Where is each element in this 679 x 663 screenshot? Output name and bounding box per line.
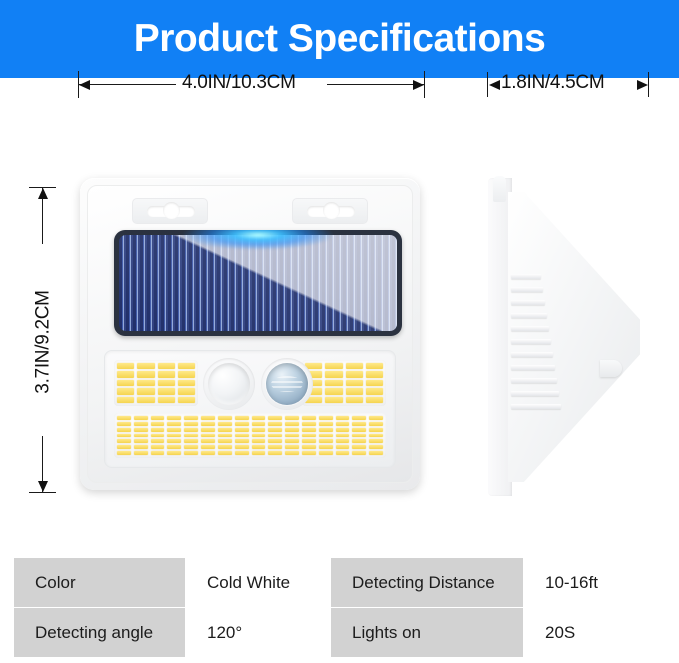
led-chip: [178, 363, 195, 369]
led-chip: [369, 439, 383, 443]
led-chip: [137, 371, 154, 377]
height-dim-tick-bottom: [29, 492, 56, 493]
led-chip: [268, 416, 282, 420]
led-chip: [346, 371, 363, 377]
led-chip: [201, 445, 215, 449]
led-chip: [158, 388, 175, 394]
led-chip: [369, 428, 383, 432]
led-chip: [201, 434, 215, 438]
led-chip: [167, 434, 181, 438]
led-chip: [167, 439, 181, 443]
pir-sensor-lens: [266, 363, 308, 405]
light-sensor-dome: [208, 363, 250, 405]
depth-dimension-label: 1.8IN/4.5CM: [501, 72, 604, 94]
side-mount-tab: [493, 176, 506, 202]
cooling-fin: [511, 339, 551, 344]
led-chip: [252, 434, 266, 438]
led-chip: [346, 380, 363, 386]
led-chip: [117, 397, 134, 403]
led-chip: [201, 439, 215, 443]
led-chip: [218, 451, 232, 455]
led-chip: [158, 371, 175, 377]
led-chip: [184, 422, 198, 426]
led-chip: [268, 422, 282, 426]
led-chip: [235, 451, 249, 455]
led-chip: [117, 422, 131, 426]
led-chip: [117, 428, 131, 432]
led-chip: [235, 416, 249, 420]
led-chip: [201, 422, 215, 426]
led-chip: [346, 363, 363, 369]
cooling-fin: [511, 378, 557, 383]
cooling-fin: [511, 404, 561, 409]
led-chip: [167, 451, 181, 455]
cooling-fin: [511, 313, 547, 318]
led-chip: [178, 380, 195, 386]
led-chip: [137, 397, 154, 403]
led-chip: [325, 363, 342, 369]
table-row: Detecting angle 120° Lights on 20S: [14, 608, 668, 658]
cooling-fin: [511, 300, 545, 305]
led-chip: [151, 445, 165, 449]
led-chip: [218, 434, 232, 438]
led-chip: [151, 434, 165, 438]
led-chip: [184, 439, 198, 443]
led-chip: [117, 371, 134, 377]
led-chip: [134, 451, 148, 455]
width-dimension-label: 4.0IN/10.3CM: [182, 72, 296, 94]
page-title: Product Specifications: [134, 17, 546, 61]
led-chip: [285, 416, 299, 420]
led-chip: [178, 397, 195, 403]
led-chip: [134, 439, 148, 443]
led-chip: [302, 416, 316, 420]
led-grid-right: [305, 363, 383, 403]
led-chip: [151, 439, 165, 443]
led-chip: [369, 422, 383, 426]
cooling-fin: [511, 326, 549, 331]
led-chip: [151, 422, 165, 426]
led-chip: [268, 445, 282, 449]
led-chip: [117, 416, 131, 420]
led-chip: [325, 388, 342, 394]
led-chip: [158, 363, 175, 369]
led-chip: [201, 451, 215, 455]
mounting-keyhole-tab-right: [292, 198, 368, 224]
led-chip: [319, 428, 333, 432]
led-chip: [285, 428, 299, 432]
led-chip: [302, 428, 316, 432]
led-chip: [235, 445, 249, 449]
led-chip: [352, 451, 366, 455]
led-chip: [218, 416, 232, 420]
led-chip: [117, 451, 131, 455]
led-chip: [366, 397, 383, 403]
led-chip: [302, 439, 316, 443]
led-chip: [134, 428, 148, 432]
cooling-fin: [511, 365, 555, 370]
led-chip: [158, 380, 175, 386]
led-chip: [117, 363, 134, 369]
led-chip: [369, 451, 383, 455]
led-panel-housing: [104, 350, 396, 468]
led-chip: [285, 439, 299, 443]
led-chip: [252, 416, 266, 420]
led-chip: [268, 451, 282, 455]
led-chip: [167, 416, 181, 420]
led-chip: [268, 439, 282, 443]
led-chip: [336, 416, 350, 420]
led-chip: [352, 445, 366, 449]
led-chip: [178, 388, 195, 394]
led-chip: [302, 434, 316, 438]
led-chip: [184, 434, 198, 438]
led-chip: [235, 422, 249, 426]
led-chip: [252, 445, 266, 449]
width-dim-arrow-right: [413, 80, 424, 90]
table-row: Color Cold White Detecting Distance 10-1…: [14, 558, 668, 608]
depth-dim-tick-left: [487, 72, 488, 97]
led-chip: [366, 388, 383, 394]
led-chip: [369, 416, 383, 420]
led-chip: [252, 451, 266, 455]
solar-indicator-glow: [183, 230, 333, 250]
cooling-fin: [511, 352, 553, 357]
led-chip: [369, 445, 383, 449]
led-chip: [336, 434, 350, 438]
led-chip: [117, 388, 134, 394]
led-chip: [336, 451, 350, 455]
led-chip: [352, 422, 366, 426]
led-chip: [369, 434, 383, 438]
led-chip: [117, 439, 131, 443]
led-grid-left: [117, 363, 195, 403]
led-grid-bottom: [117, 416, 383, 455]
led-chip: [134, 416, 148, 420]
led-chip: [158, 397, 175, 403]
led-chip: [218, 445, 232, 449]
led-chip: [218, 422, 232, 426]
led-chip: [201, 416, 215, 420]
led-chip: [285, 451, 299, 455]
led-chip: [285, 434, 299, 438]
led-chip: [167, 428, 181, 432]
width-dim-arrow-left: [79, 80, 90, 90]
width-dim-line-right: [327, 84, 424, 85]
led-chip: [184, 451, 198, 455]
led-chip: [134, 445, 148, 449]
cooling-fin: [511, 391, 559, 396]
led-chip: [151, 451, 165, 455]
led-chip: [268, 428, 282, 432]
cooling-fin: [511, 274, 541, 279]
width-dim-tick-right: [424, 71, 425, 98]
led-chip: [325, 397, 342, 403]
led-chip: [252, 439, 266, 443]
cooling-fin: [511, 287, 543, 292]
spec-value-color: Cold White: [186, 558, 331, 608]
led-chip: [252, 428, 266, 432]
wall-mount-bracket: [600, 360, 622, 377]
led-chip: [167, 445, 181, 449]
led-chip: [366, 371, 383, 377]
solar-light-side-view: [488, 178, 643, 496]
led-chip: [201, 428, 215, 432]
height-dimension-label: 3.7IN/9.2CM: [33, 280, 55, 405]
led-chip: [319, 451, 333, 455]
led-chip: [151, 416, 165, 420]
led-chip: [319, 439, 333, 443]
pir-motion-sensor-dome: [266, 363, 308, 405]
led-chip: [319, 416, 333, 420]
led-zone-left: [114, 360, 198, 406]
led-chip: [302, 422, 316, 426]
led-chip: [117, 380, 134, 386]
cooling-fins: [511, 274, 563, 416]
led-chip: [336, 439, 350, 443]
front-housing: [87, 185, 413, 483]
led-chip: [167, 422, 181, 426]
led-chip: [352, 416, 366, 420]
depth-dim-arrow-left: [489, 80, 500, 90]
page-header-banner: Product Specifications: [0, 0, 679, 78]
spec-value-detecting-distance: 10-16ft: [524, 558, 668, 608]
depth-dim-tick-right: [648, 72, 649, 97]
led-chip: [336, 428, 350, 432]
led-chip: [302, 451, 316, 455]
mounting-keyhole-tab-left: [132, 198, 208, 224]
led-chip: [252, 422, 266, 426]
depth-dim-arrow-right: [637, 80, 648, 90]
led-chip: [134, 434, 148, 438]
led-chip: [184, 428, 198, 432]
spec-label-detecting-angle: Detecting angle: [14, 608, 186, 658]
width-dim-line-left: [79, 84, 176, 85]
led-chip: [235, 428, 249, 432]
led-chip: [336, 445, 350, 449]
specifications-table: Color Cold White Detecting Distance 10-1…: [13, 557, 668, 658]
led-zone-right: [302, 360, 386, 406]
led-chip: [137, 388, 154, 394]
led-chip: [235, 439, 249, 443]
led-chip: [134, 422, 148, 426]
led-zone-bottom: [114, 413, 386, 458]
led-chip: [302, 445, 316, 449]
light-sensor-lens: [208, 363, 250, 405]
led-chip: [184, 416, 198, 420]
solar-panel: [114, 230, 402, 336]
led-chip: [346, 388, 363, 394]
led-chip: [178, 371, 195, 377]
led-chip: [366, 363, 383, 369]
led-chip: [319, 434, 333, 438]
spec-label-color: Color: [14, 558, 186, 608]
height-dim-arrow-top: [38, 188, 48, 199]
solar-light-front-view: [80, 178, 420, 490]
led-chip: [117, 445, 131, 449]
led-chip: [285, 445, 299, 449]
led-chip: [184, 445, 198, 449]
led-chip: [325, 380, 342, 386]
led-chip: [218, 439, 232, 443]
led-chip: [352, 428, 366, 432]
led-chip: [137, 363, 154, 369]
led-chip: [346, 397, 363, 403]
led-chip: [325, 371, 342, 377]
led-chip: [117, 434, 131, 438]
led-chip: [137, 380, 154, 386]
led-chip: [285, 422, 299, 426]
led-chip: [268, 434, 282, 438]
led-chip: [319, 422, 333, 426]
led-chip: [235, 434, 249, 438]
led-chip: [366, 380, 383, 386]
led-chip: [352, 434, 366, 438]
product-diagram: 4.0IN/10.3CM 1.8IN/4.5CM 3.7IN/9.2CM: [0, 78, 679, 538]
led-chip: [319, 445, 333, 449]
led-chip: [336, 422, 350, 426]
led-chip: [218, 428, 232, 432]
led-chip: [352, 439, 366, 443]
spec-label-lights-on: Lights on: [331, 608, 524, 658]
spec-label-detecting-distance: Detecting Distance: [331, 558, 524, 608]
spec-value-detecting-angle: 120°: [186, 608, 331, 658]
spec-value-lights-on: 20S: [524, 608, 668, 658]
led-chip: [151, 428, 165, 432]
height-dim-arrow-bottom: [38, 481, 48, 492]
